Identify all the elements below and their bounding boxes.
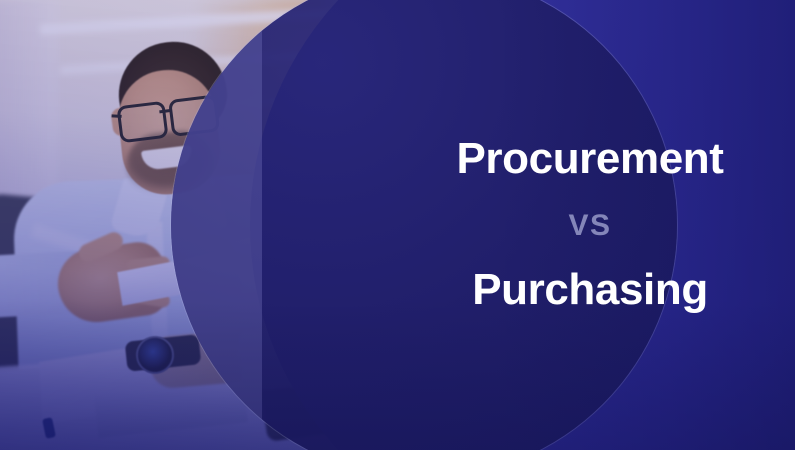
headline-secondary: Purchasing: [472, 267, 708, 314]
headline-block: Procurement VS Purchasing: [400, 0, 780, 450]
headline-separator: VS: [568, 211, 611, 241]
headline-primary: Procurement: [456, 136, 723, 183]
procurement-vs-purchasing-banner: Procurement VS Purchasing: [0, 0, 795, 450]
